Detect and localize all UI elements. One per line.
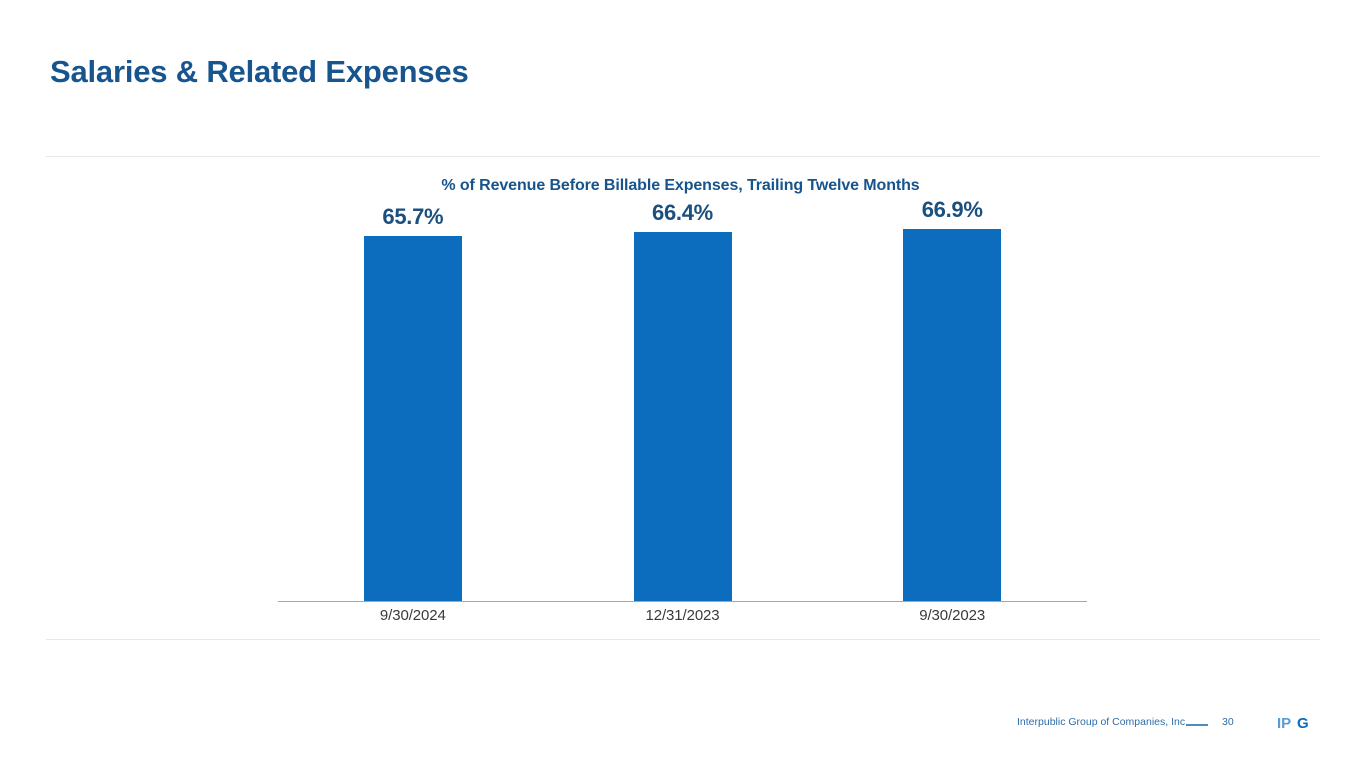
divider-top (46, 156, 1320, 157)
slide-footer: Interpublic Group of Companies, Inc. 30 … (0, 712, 1365, 742)
bar-slot: 66.4% (548, 220, 818, 601)
footer-page-number: 30 (1222, 716, 1234, 728)
footer-separator-dash (1186, 724, 1208, 726)
chart-container: % of Revenue Before Billable Expenses, T… (0, 160, 1365, 638)
bar-column[interactable]: 65.7% (364, 236, 462, 601)
bar-column[interactable]: 66.4% (634, 232, 732, 601)
bar-value-label: 66.9% (922, 197, 983, 223)
svg-text:G: G (1297, 715, 1309, 732)
x-axis-tick-label: 12/31/2023 (548, 607, 818, 624)
slide: Salaries & Related Expenses % of Revenue… (0, 0, 1365, 768)
svg-text:IP: IP (1277, 715, 1291, 732)
chart-subtitle: % of Revenue Before Billable Expenses, T… (0, 177, 1365, 195)
footer-company-name: Interpublic Group of Companies, Inc. (1017, 716, 1188, 728)
chart-plot-area: 65.7% 66.4% 66.9% (278, 220, 1087, 602)
x-axis-tick-label: 9/30/2023 (817, 607, 1087, 624)
chart-subtitle-text: % of Revenue Before Billable Expenses, T… (441, 177, 919, 195)
page-title: Salaries & Related Expenses (50, 54, 469, 90)
bar-column[interactable]: 66.9% (903, 229, 1001, 601)
x-axis-line (278, 601, 1087, 602)
divider-bottom (46, 639, 1320, 640)
bar-value-label: 65.7% (382, 204, 443, 230)
bar-slot: 65.7% (278, 220, 548, 601)
bar-group: 65.7% 66.4% 66.9% (278, 220, 1087, 601)
bar-value-label: 66.4% (652, 200, 713, 226)
ipg-logo: IP G (1277, 712, 1313, 734)
x-axis-tick-label: 9/30/2024 (278, 607, 548, 624)
x-axis-labels: 9/30/2024 12/31/2023 9/30/2023 (278, 607, 1087, 624)
bar-slot: 66.9% (817, 220, 1087, 601)
